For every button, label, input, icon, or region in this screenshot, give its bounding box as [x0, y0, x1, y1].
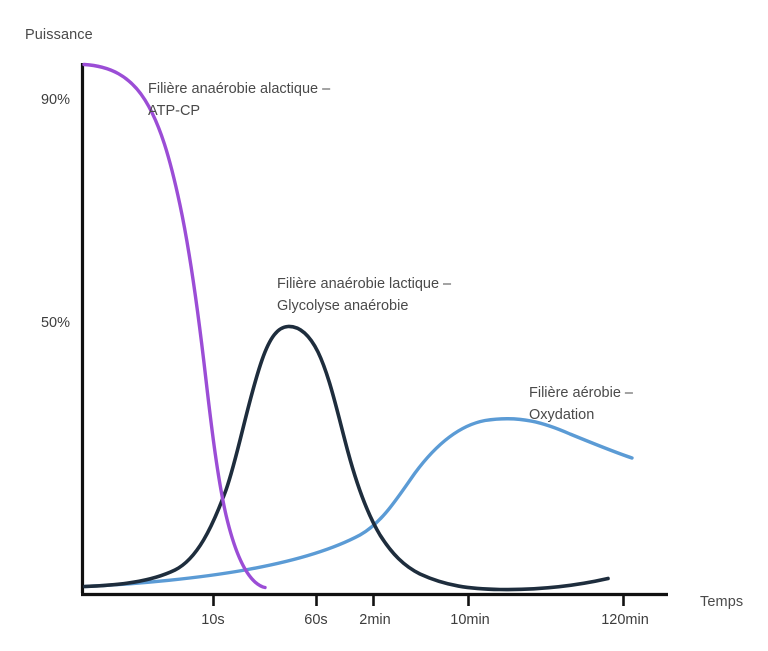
energy-systems-chart: Puissance Temps 90% 50% 10s 60s 2min 10m…	[0, 0, 768, 651]
series-line-alactic	[84, 65, 265, 588]
annotation-alactic-label: Filière anaérobie alactique – ATP-CP	[148, 78, 330, 122]
y-axis-title: Puissance	[25, 27, 93, 43]
x-axis-title: Temps	[700, 594, 743, 610]
x-tick-label-10s: 10s	[201, 612, 224, 628]
chart-plot-area	[0, 0, 768, 651]
series-line-lactic	[85, 326, 608, 589]
annotation-aerobic-label: Filière aérobie – Oxydation	[529, 382, 633, 426]
x-tick-label-120min: 120min	[601, 612, 649, 628]
y-tick-label-90: 90%	[18, 92, 70, 108]
x-tick-label-10min: 10min	[450, 612, 490, 628]
x-tick-label-2min: 2min	[359, 612, 390, 628]
y-tick-label-50: 50%	[18, 315, 70, 331]
series-line-aerobic	[85, 419, 632, 587]
x-tick-label-60s: 60s	[304, 612, 327, 628]
x-axis-ticks	[214, 596, 624, 606]
annotation-lactic-label: Filière anaérobie lactique – Glycolyse a…	[277, 273, 451, 317]
